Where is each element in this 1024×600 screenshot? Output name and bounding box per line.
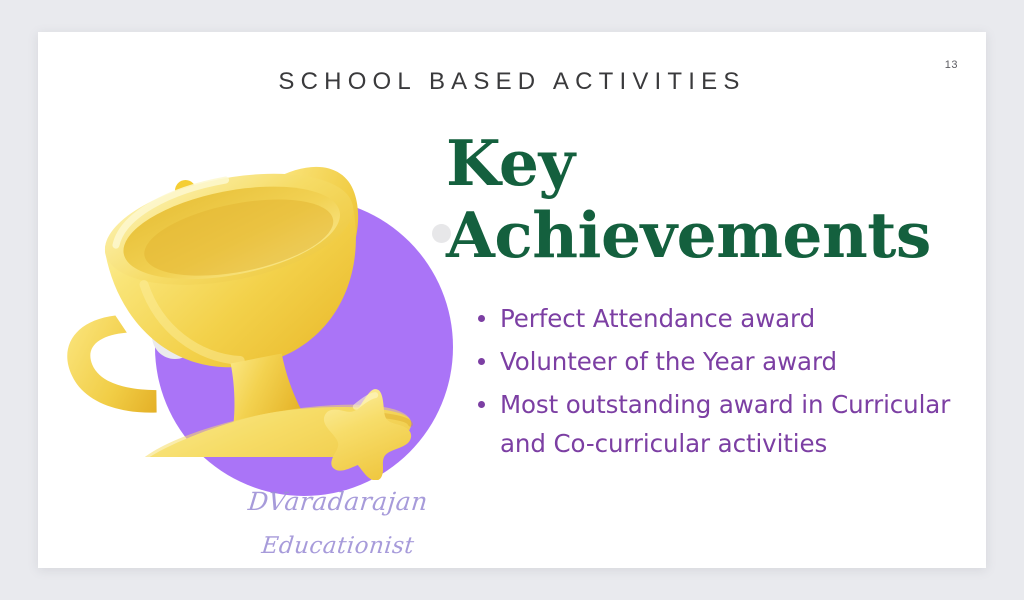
bullet-dot-icon <box>478 358 485 365</box>
title-line-2: Achievements <box>446 199 966 271</box>
slide-viewer: 13 SCHOOL BASED ACTIVITIES <box>0 0 1024 600</box>
signature-role: Educationist <box>221 524 456 568</box>
bullet-dot-icon <box>478 401 485 408</box>
purple-circle-decoration <box>155 198 453 496</box>
signature: DVaradarajan Educationist <box>223 480 453 568</box>
list-item: Perfect Attendance award <box>470 299 980 338</box>
list-item: Volunteer of the Year award <box>470 342 980 381</box>
bullet-dot-icon <box>478 315 485 322</box>
signature-name: DVaradarajan <box>221 480 456 524</box>
list-item: Most outstanding award in Curricular and… <box>470 385 980 463</box>
list-item-text: Volunteer of the Year award <box>500 347 837 376</box>
slide-canvas: 13 SCHOOL BASED ACTIVITIES <box>38 32 986 568</box>
list-item-text: Most outstanding award in Curricular and… <box>500 390 950 458</box>
gray-circle-decoration-large <box>152 313 198 359</box>
title-line-1: Key <box>446 127 966 199</box>
list-item-text: Perfect Attendance award <box>500 304 815 333</box>
slide-title: Key Achievements <box>446 127 966 271</box>
yellow-dot-decoration <box>175 180 196 201</box>
slide-eyebrow-heading: SCHOOL BASED ACTIVITIES <box>38 68 986 96</box>
achievements-list: Perfect Attendance award Volunteer of th… <box>470 299 980 467</box>
